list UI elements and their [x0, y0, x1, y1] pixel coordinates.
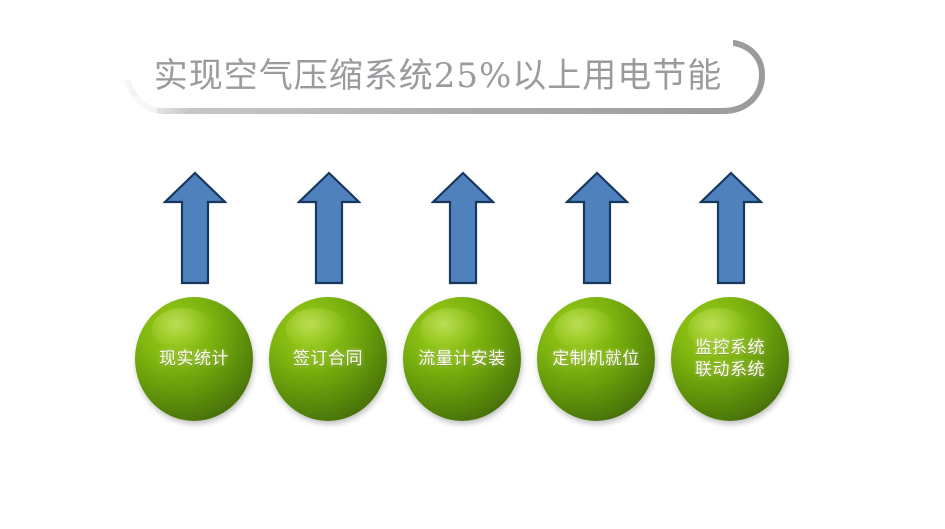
up-arrow-icon-2 — [297, 171, 361, 285]
page-title: 实现空气压缩系统25%以上用电节能 — [123, 30, 723, 122]
title-banner: 实现空气压缩系统25%以上用电节能 — [123, 30, 778, 122]
process-node-3[interactable]: 流量计安装 — [403, 297, 521, 421]
presentation-slide: 实现空气压缩系统25%以上用电节能 现实统计 签订合同 流量计安装 — [0, 0, 945, 529]
sphere-shape — [135, 297, 253, 421]
up-arrow-icon-1 — [163, 171, 227, 285]
sphere-shape — [537, 297, 655, 421]
process-node-5[interactable]: 监控系统 联动系统 — [671, 297, 789, 421]
up-arrow-icon-3 — [431, 171, 495, 285]
process-node-1[interactable]: 现实统计 — [135, 297, 253, 421]
up-arrow-icon-4 — [565, 171, 629, 285]
sphere-shape — [671, 297, 789, 421]
process-node-2[interactable]: 签订合同 — [269, 297, 387, 421]
sphere-shape — [403, 297, 521, 421]
sphere-shape — [269, 297, 387, 421]
up-arrow-icon-5 — [699, 171, 763, 285]
process-node-4[interactable]: 定制机就位 — [537, 297, 655, 421]
